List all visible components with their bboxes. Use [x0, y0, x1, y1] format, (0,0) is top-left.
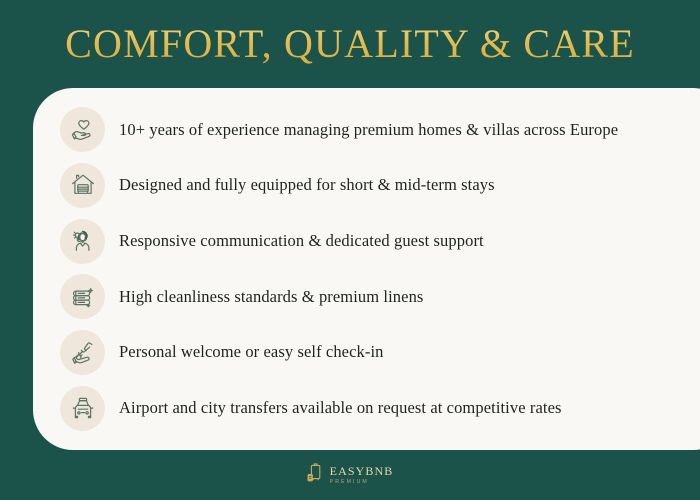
list-item: Designed and fully equipped for short & …: [33, 159, 700, 211]
list-item-label: Personal welcome or easy self check-in: [119, 342, 384, 362]
features-card: 10+ years of experience managing premium…: [33, 88, 700, 450]
list-item-label: Responsive communication & dedicated gue…: [119, 231, 484, 251]
furnished-house-icon: [60, 163, 105, 208]
list-item: Responsive communication & dedicated gue…: [33, 215, 700, 267]
list-item: 10+ years of experience managing premium…: [33, 104, 700, 156]
luggage-icon: [307, 462, 323, 488]
list-item: Personal welcome or easy self check-in: [33, 326, 700, 378]
page-title: COMFORT, QUALITY & CARE: [0, 22, 700, 65]
footer-logo: EASYBNB PREMIUM: [0, 462, 700, 488]
logo-name: EASYBNB: [330, 465, 394, 477]
list-item-label: High cleanliness standards & premium lin…: [119, 287, 423, 307]
taxi-transfer-icon: [60, 386, 105, 431]
key-handover-icon: [60, 330, 105, 375]
list-item: Airport and city transfers available on …: [33, 382, 700, 434]
support-agent-icon: [60, 219, 105, 264]
logo-tagline: PREMIUM: [330, 480, 394, 485]
list-item-label: Airport and city transfers available on …: [119, 398, 562, 418]
heart-in-hand-icon: [60, 107, 105, 152]
folded-linens-icon: [60, 274, 105, 319]
list-item-label: Designed and fully equipped for short & …: [119, 175, 495, 195]
list-item-label: 10+ years of experience managing premium…: [119, 120, 618, 140]
list-item: High cleanliness standards & premium lin…: [33, 271, 700, 323]
